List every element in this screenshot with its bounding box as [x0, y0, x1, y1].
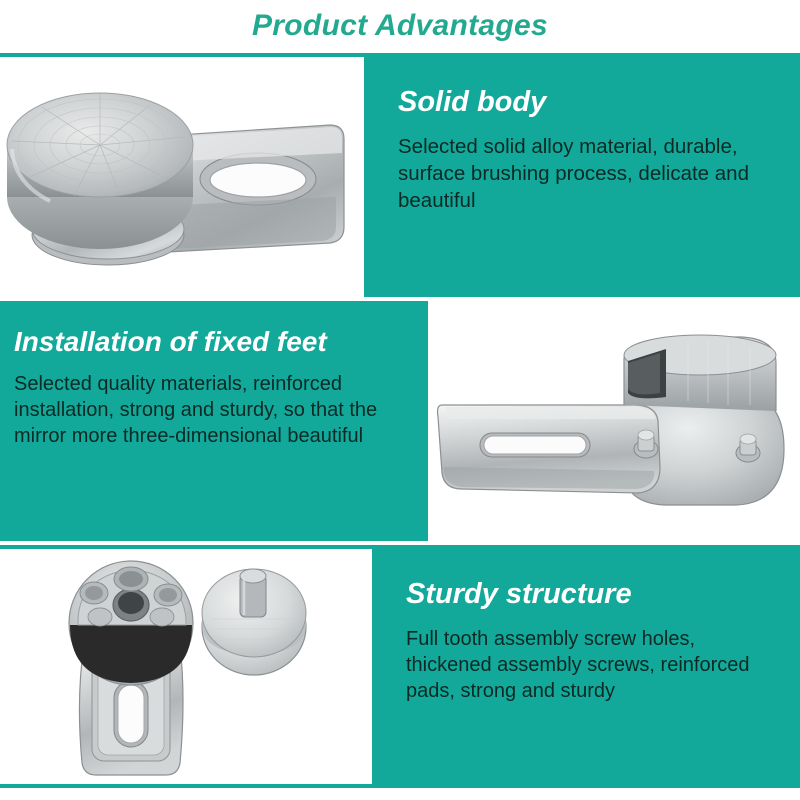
text-panel-solid-body: Solid body Selected solid alloy material… [364, 57, 800, 297]
page-title-bar: Product Advantages [0, 0, 800, 52]
section-body-solid-body: Selected solid alloy material, durable, … [398, 134, 776, 214]
section-sturdy-structure: Sturdy structure Full tooth assembly scr… [0, 549, 800, 785]
product-image-solid-body [0, 57, 364, 297]
clip-disc-bracket-illustration [0, 57, 364, 297]
clip-side-view-illustration [428, 301, 800, 541]
section-heading-sturdy-structure: Sturdy structure [406, 579, 776, 609]
disassembled-clip-and-cap-illustration [0, 549, 372, 785]
product-image-installation [428, 301, 800, 541]
section-body-installation: Selected quality materials, reinforced i… [14, 371, 404, 449]
product-advantages-infographic: Product Advantages [0, 0, 800, 800]
section-body-sturdy-structure: Full tooth assembly screw holes, thicken… [406, 626, 776, 704]
product-image-sturdy-structure [0, 549, 372, 785]
text-panel-installation: Installation of fixed feet Selected qual… [0, 301, 428, 541]
section-installation-of-fixed-feet: Installation of fixed feet Selected qual… [0, 301, 800, 541]
section-solid-body: Solid body Selected solid alloy material… [0, 57, 800, 297]
section-heading-installation: Installation of fixed feet [14, 327, 404, 356]
section-heading-solid-body: Solid body [398, 87, 776, 117]
text-panel-sturdy-structure: Sturdy structure Full tooth assembly scr… [372, 549, 800, 785]
divider-bottom [0, 784, 800, 788]
page-title: Product Advantages [252, 11, 548, 41]
